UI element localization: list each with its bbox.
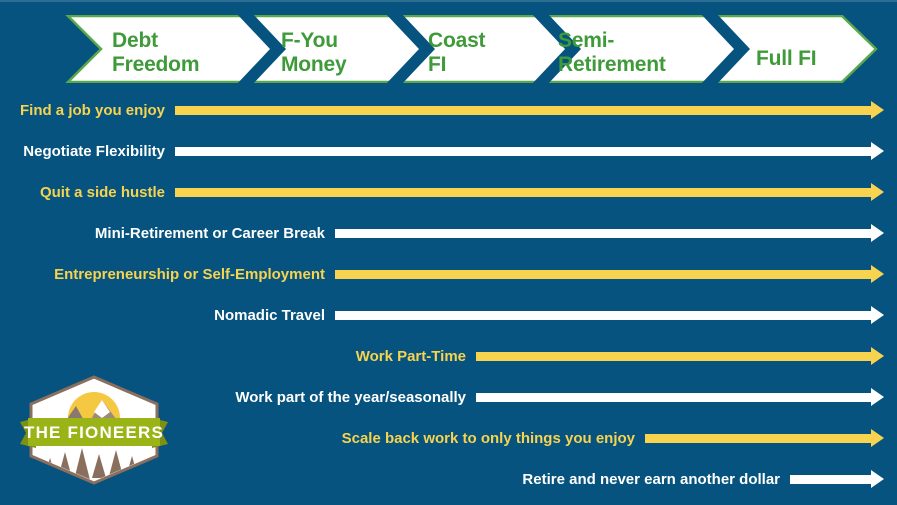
milestone-arrow — [790, 464, 884, 494]
arrow-head — [871, 142, 884, 160]
arrow-shaft — [476, 352, 871, 361]
milestone-arrow — [175, 95, 884, 125]
milestone-arrow — [476, 382, 884, 412]
milestone-row: Find a job you enjoy — [0, 95, 897, 125]
milestone-row: Negotiate Flexibility — [0, 136, 897, 166]
arrow-shaft — [175, 188, 871, 197]
milestone-arrow — [335, 259, 884, 289]
arrow-head — [871, 183, 884, 201]
stage-label-full-fi: Full FI — [756, 47, 816, 71]
arrow-head — [871, 306, 884, 324]
milestone-label: Work Part-Time — [356, 349, 466, 364]
arrow-shaft — [335, 229, 871, 238]
logo-badge: THE FIONEERS — [18, 374, 170, 486]
arrow-shaft — [790, 475, 871, 484]
arrow-shaft — [175, 106, 871, 115]
logo-ribbon-text: THE FIONEERS — [24, 423, 164, 442]
arrow-shaft — [645, 434, 871, 443]
stage-label-semi-retirement: Semi- Retirement — [558, 29, 666, 77]
milestone-arrow — [645, 423, 884, 453]
arrow-head — [871, 224, 884, 242]
arrow-head — [871, 347, 884, 365]
milestone-label: Find a job you enjoy — [20, 103, 165, 118]
milestone-arrow — [175, 177, 884, 207]
milestone-label: Entrepreneurship or Self-Employment — [54, 267, 325, 282]
stage-label-f-you-money: F-You Money — [281, 29, 347, 77]
milestone-label: Quit a side hustle — [40, 185, 165, 200]
arrow-shaft — [476, 393, 871, 402]
milestone-label: Scale back work to only things you enjoy — [342, 431, 635, 446]
milestone-row: Entrepreneurship or Self-Employment — [0, 259, 897, 289]
arrow-head — [871, 429, 884, 447]
milestone-arrow — [175, 136, 884, 166]
milestone-label: Work part of the year/seasonally — [235, 390, 466, 405]
arrow-shaft — [175, 147, 871, 156]
milestone-row: Nomadic Travel — [0, 300, 897, 330]
arrow-shaft — [335, 270, 871, 279]
the-fioneers-logo: THE FIONEERS — [18, 374, 170, 486]
stage-progression-band: Debt Freedom F-You Money Coast FI Semi- … — [0, 15, 897, 83]
milestone-label: Retire and never earn another dollar — [522, 472, 780, 487]
arrow-head — [871, 265, 884, 283]
milestone-label: Mini-Retirement or Career Break — [95, 226, 325, 241]
arrow-head — [871, 470, 884, 488]
arrow-head — [871, 388, 884, 406]
milestone-label: Nomadic Travel — [214, 308, 325, 323]
milestone-row: Mini-Retirement or Career Break — [0, 218, 897, 248]
fi-journey-infographic: Debt Freedom F-You Money Coast FI Semi- … — [0, 0, 897, 505]
milestone-arrow — [335, 300, 884, 330]
stage-label-coast-fi: Coast FI — [428, 29, 485, 77]
stage-label-debt-freedom: Debt Freedom — [112, 29, 199, 77]
milestone-label: Negotiate Flexibility — [23, 144, 165, 159]
milestone-arrow — [476, 341, 884, 371]
milestone-row: Work Part-Time — [0, 341, 897, 371]
arrow-shaft — [335, 311, 871, 320]
milestone-row: Quit a side hustle — [0, 177, 897, 207]
arrow-head — [871, 101, 884, 119]
milestone-arrow — [335, 218, 884, 248]
